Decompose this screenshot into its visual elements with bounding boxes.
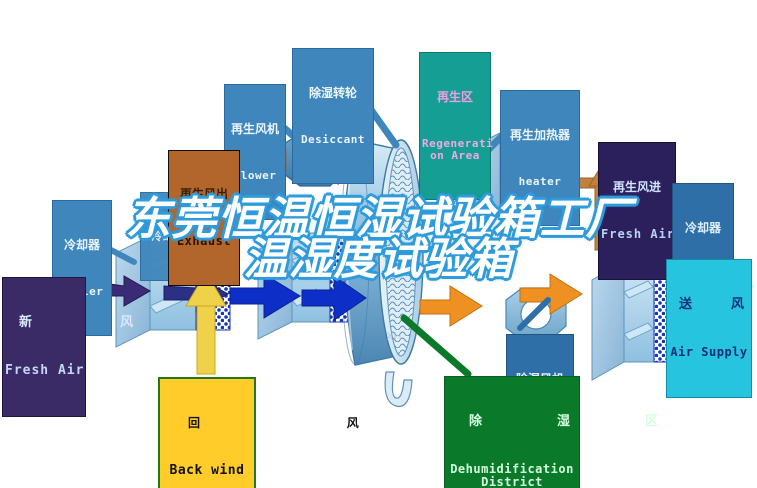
label-exhaust-en: Exhaust bbox=[171, 235, 237, 248]
label-fresh-air: 新 风 Fresh Air bbox=[2, 277, 86, 417]
label-regeneration-area: 再生区 Regenerati on Area bbox=[419, 52, 491, 200]
label-regeneration-heater-en: heater bbox=[503, 176, 577, 188]
label-desiccant-rotor: 除湿转轮 Desiccant bbox=[292, 48, 374, 184]
label-back-wind-cn: 回 风 bbox=[162, 417, 252, 430]
label-air-supply-en: Air Supply bbox=[669, 346, 749, 359]
label-exhaust-cn: 再生风出 bbox=[171, 188, 237, 201]
label-fresh-air-en: Fresh Air bbox=[5, 364, 83, 378]
label-exhaust: 再生风出 Exhaust bbox=[168, 150, 240, 286]
label-air-supply: 送 风 Air Supply bbox=[666, 259, 752, 398]
label-regeneration-heater: 再生加热器 heater bbox=[500, 90, 580, 226]
label-regeneration-inlet-en: Fresh Air bbox=[601, 228, 673, 241]
label-back-wind-en: Back wind bbox=[162, 464, 252, 478]
label-fresh-air-cn: 新 风 bbox=[5, 316, 83, 330]
label-dehumidification-zone-cn: 除 湿 区 bbox=[447, 415, 577, 429]
label-regeneration-heater-cn: 再生加热器 bbox=[503, 129, 577, 142]
label-air-supply-cn: 送 风 bbox=[669, 298, 749, 312]
label-dehumidification-zone: 除 湿 区 Dehumidification District bbox=[444, 376, 580, 488]
label-dehumidification-zone-en: Dehumidification District bbox=[447, 463, 577, 488]
label-back-wind: 回 风 Back wind bbox=[158, 377, 256, 488]
label-desiccant-rotor-en: Desiccant bbox=[295, 134, 371, 146]
label-regeneration-area-en: Regenerati on Area bbox=[422, 138, 488, 162]
label-cooler-left-cn: 冷却器 bbox=[55, 239, 109, 252]
label-regeneration-area-cn: 再生区 bbox=[422, 91, 488, 104]
rotor-watermark-text: XH bbox=[386, 330, 402, 343]
label-desiccant-rotor-cn: 除湿转轮 bbox=[295, 87, 371, 100]
drain-pan bbox=[385, 372, 412, 406]
label-regeneration-blower-cn: 再生风机 bbox=[227, 123, 283, 136]
label-regeneration-inlet: 再生风进 Fresh Air bbox=[598, 142, 676, 280]
label-regeneration-inlet-cn: 再生风进 bbox=[601, 181, 673, 194]
diagram-canvas: XH 除湿转轮 Desiccant 再生风机 Blower 再生区 Regene… bbox=[0, 0, 757, 488]
dry-air-arrow-1 bbox=[420, 286, 482, 326]
label-cooler-right-cn: 冷却器 bbox=[675, 222, 731, 235]
